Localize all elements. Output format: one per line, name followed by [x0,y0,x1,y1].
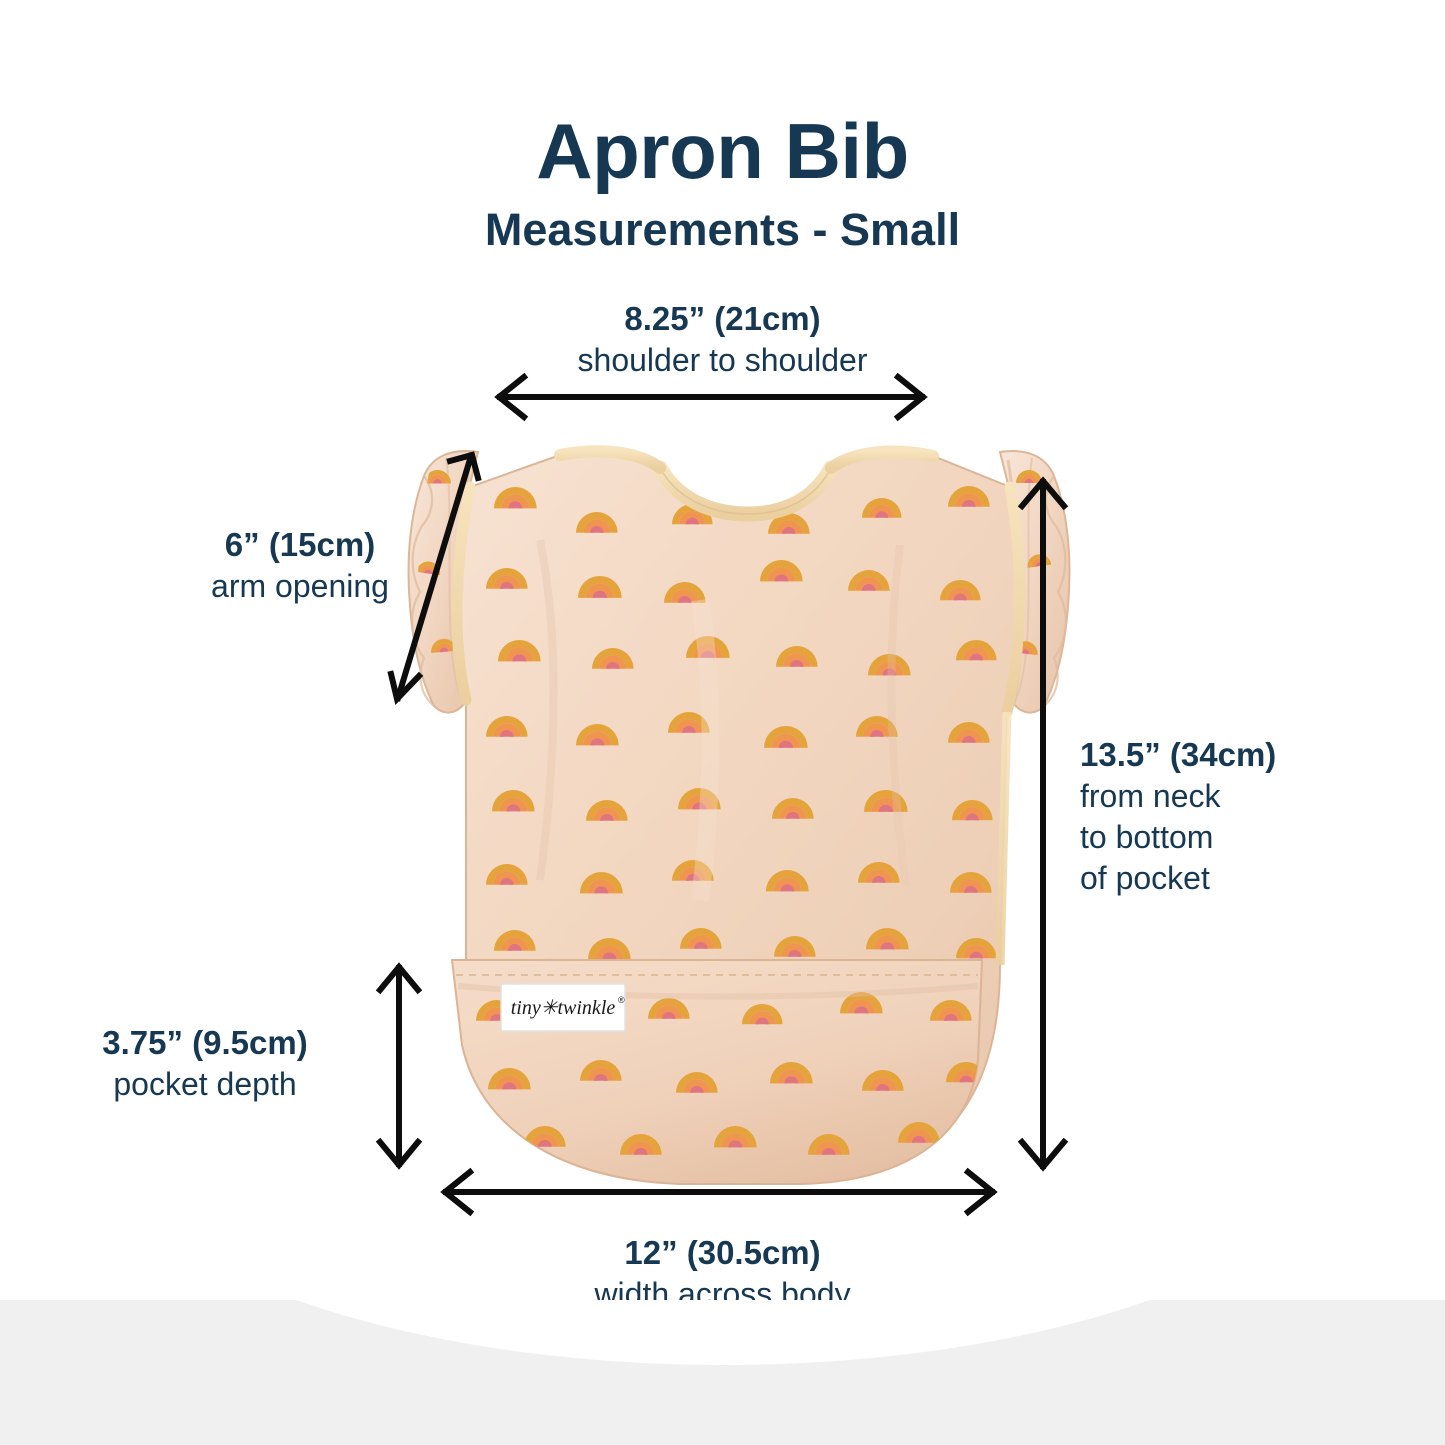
measurement-pocket-depth: 3.75” (9.5cm) pocket depth [40,1022,370,1105]
measurement-value: 13.5” (34cm) [1080,734,1420,776]
measurement-value: 6” (15cm) [150,524,450,566]
measurement-arm-opening: 6” (15cm) arm opening [150,524,450,607]
measurement-value: 12” (30.5cm) [0,1232,1445,1274]
measurement-description: arm opening [150,566,450,607]
measurement-description: shoulder to shoulder [0,340,1445,381]
measurement-description-line-2: to bottom [1080,817,1420,858]
measurement-value: 8.25” (21cm) [0,298,1445,340]
measurement-description-line-3: of pocket [1080,858,1420,899]
measurement-neck-to-bottom-of-pocket: 13.5” (34cm) from neck to bottom of pock… [1080,734,1420,899]
measurement-shoulder-to-shoulder: 8.25” (21cm) shoulder to shoulder [0,298,1445,381]
bottom-white-arc [78,1300,1368,1365]
measurement-description-line-1: from neck [1080,776,1420,817]
bottom-gray-band [0,1300,1445,1445]
measurement-diagram: tiny✳twinkle ® [0,0,1445,1445]
page-subtitle: Measurements - Small [0,205,1445,255]
measurement-value: 3.75” (9.5cm) [40,1022,370,1064]
page-title: Apron Bib [0,112,1445,190]
measurement-description: pocket depth [40,1064,370,1105]
